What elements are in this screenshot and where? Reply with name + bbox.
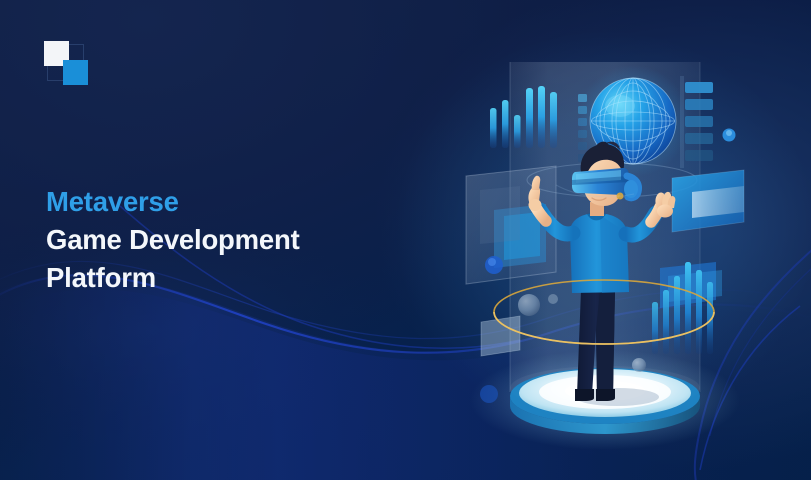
hero-banner: Metaverse Game Development Platform <box>0 0 811 480</box>
floating-panel-right[interactable] <box>672 170 744 232</box>
vr-illustration <box>0 0 811 480</box>
dot-bottom-left <box>480 385 498 403</box>
